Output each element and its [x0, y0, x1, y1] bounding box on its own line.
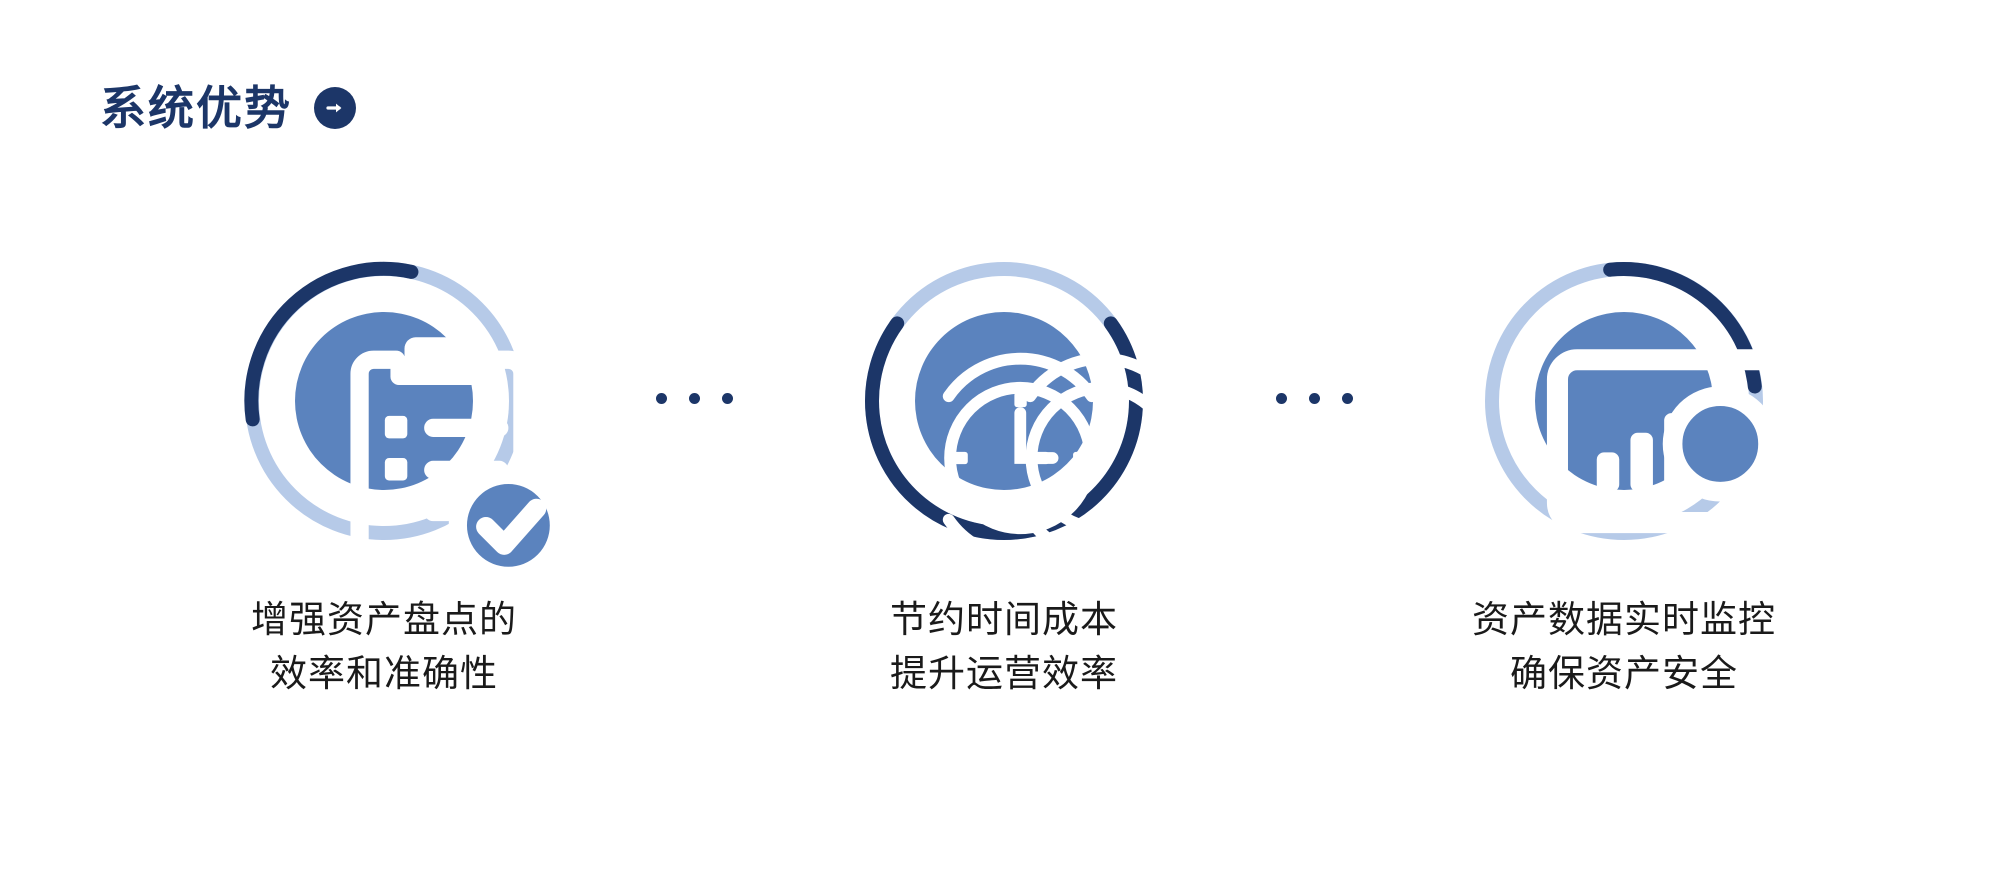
caption-line-2: 效率和准确性: [251, 647, 517, 701]
caption-line-2: 确保资产安全: [1472, 647, 1776, 701]
advantage-caption-2: 节约时间成本 提升运营效率: [890, 593, 1118, 700]
icon-disc-2: [915, 312, 1093, 490]
arrow-right-icon[interactable]: [314, 87, 356, 129]
advantages-row: 增强资产盘点的 效率和准确性: [0, 255, 2008, 700]
section-header: 系统优势: [100, 85, 356, 131]
progress-ring-3: [1478, 255, 1770, 547]
progress-ring-1: [238, 255, 530, 547]
progress-ring-2: [858, 255, 1150, 547]
icon-disc-1: [295, 312, 473, 490]
dots-separator-1: [634, 393, 754, 404]
dot: [1309, 393, 1320, 404]
advantage-item-1[interactable]: 增强资产盘点的 效率和准确性: [134, 255, 634, 700]
advantage-item-3[interactable]: 资产数据实时监控 确保资产安全: [1374, 255, 1874, 700]
dot: [656, 393, 667, 404]
monitor-analytics-search-icon: [1535, 312, 1827, 604]
advantage-caption-1: 增强资产盘点的 效率和准确性: [251, 593, 517, 700]
dot: [1342, 393, 1353, 404]
dual-clock-icon: [915, 312, 1207, 604]
caption-line-2: 提升运营效率: [890, 647, 1118, 701]
clipboard-check-icon: [295, 312, 587, 604]
advantage-item-2[interactable]: 节约时间成本 提升运营效率: [754, 255, 1254, 700]
dots-separator-2: [1254, 393, 1374, 404]
dot: [1276, 393, 1287, 404]
page-title: 系统优势: [100, 85, 292, 131]
dot: [689, 393, 700, 404]
advantage-caption-3: 资产数据实时监控 确保资产安全: [1472, 593, 1776, 700]
icon-disc-3: [1535, 312, 1713, 490]
dot: [722, 393, 733, 404]
